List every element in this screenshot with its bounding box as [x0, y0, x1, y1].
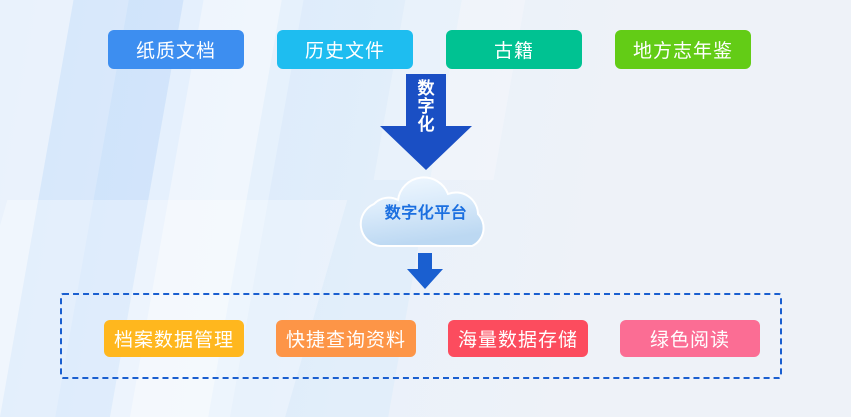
output-label: 快捷查询资料	[286, 325, 406, 352]
output-label: 档案数据管理	[114, 325, 234, 352]
source-label: 纸质文档	[136, 36, 216, 63]
output-label: 海量数据存储	[458, 325, 578, 352]
diagram-canvas: 纸质文档 历史文件 古籍 地方志年鉴 数 字 化 数字化平台 档案	[0, 0, 851, 417]
source-label: 历史文件	[305, 36, 385, 63]
output-archive-data-management[interactable]: 档案数据管理	[104, 320, 244, 357]
source-ancient-books[interactable]: 古籍	[446, 30, 582, 69]
source-local-chronicles[interactable]: 地方志年鉴	[615, 30, 751, 69]
output-green-reading[interactable]: 绿色阅读	[620, 320, 760, 357]
down-arrow-icon	[406, 253, 444, 289]
source-label: 地方志年鉴	[633, 36, 733, 63]
output-label: 绿色阅读	[650, 325, 730, 352]
output-quick-query[interactable]: 快捷查询资料	[276, 320, 416, 357]
cloud-icon	[350, 176, 502, 248]
down-arrow-icon	[378, 74, 474, 170]
source-paper-documents[interactable]: 纸质文档	[108, 30, 244, 69]
source-label: 古籍	[494, 36, 534, 63]
output-mass-data-storage[interactable]: 海量数据存储	[448, 320, 588, 357]
source-historical-files[interactable]: 历史文件	[277, 30, 413, 69]
